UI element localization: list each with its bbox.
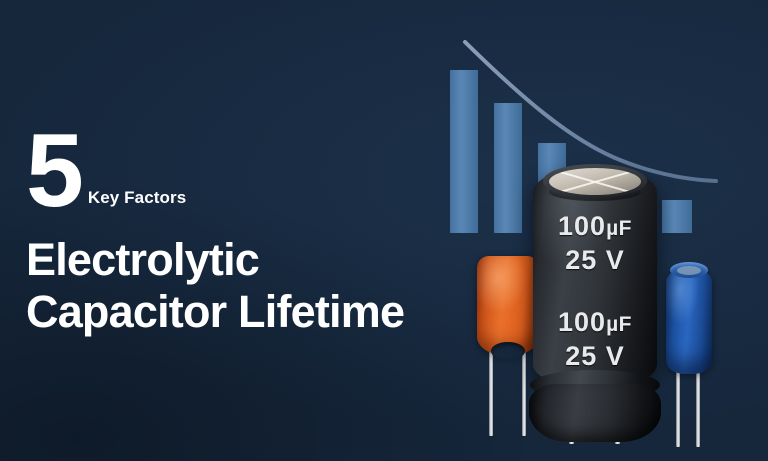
- capacitor-lifetime-banner: 100µF 25 V 100µF 25 V 5 Key Factors Elec…: [0, 0, 768, 461]
- blue-capacitor-body: [666, 268, 712, 374]
- capacitance-value-bottom: 100: [558, 307, 606, 337]
- blue-electrolytic-capacitor: [662, 262, 716, 447]
- capacitor-print-capacitance-top: 100µF: [533, 211, 657, 242]
- capacitor-print-voltage-top: 25 V: [533, 245, 657, 276]
- capacitor-lead-left: [676, 362, 680, 447]
- capacitor-lead-left: [489, 346, 493, 436]
- eyebrow-row: 5 Key Factors: [26, 118, 496, 214]
- capacitance-unit-bottom: µF: [606, 313, 632, 336]
- factor-count-number: 5: [26, 129, 82, 214]
- capacitance-unit-top: µF: [606, 217, 632, 240]
- blue-capacitor-top-hole: [677, 266, 701, 275]
- black-electrolytic-capacitor: 100µF 25 V 100µF 25 V: [533, 167, 657, 442]
- capacitance-value-top: 100: [558, 211, 606, 241]
- decay-curve-line: [465, 42, 716, 181]
- black-capacitor-base-skirt: [529, 384, 661, 442]
- factor-count-label: Key Factors: [82, 188, 186, 214]
- black-capacitor-body: 100µF 25 V 100µF 25 V: [533, 167, 657, 382]
- black-capacitor-vent-plate: [549, 168, 641, 195]
- capacitor-lead-right: [696, 362, 700, 447]
- headline-block: 5 Key Factors Electrolytic Capacitor Lif…: [26, 118, 496, 338]
- capacitor-print-voltage-bottom: 25 V: [533, 341, 657, 372]
- chart-bar-2: [494, 103, 522, 233]
- orange-capacitor-notch: [491, 342, 525, 360]
- page-title-line-2: Capacitor Lifetime: [26, 286, 496, 338]
- page-title-line-1: Electrolytic: [26, 234, 496, 286]
- capacitor-lead-right: [522, 346, 526, 436]
- capacitor-print-capacitance-bottom: 100µF: [533, 307, 657, 338]
- chart-bar-5: [662, 200, 692, 233]
